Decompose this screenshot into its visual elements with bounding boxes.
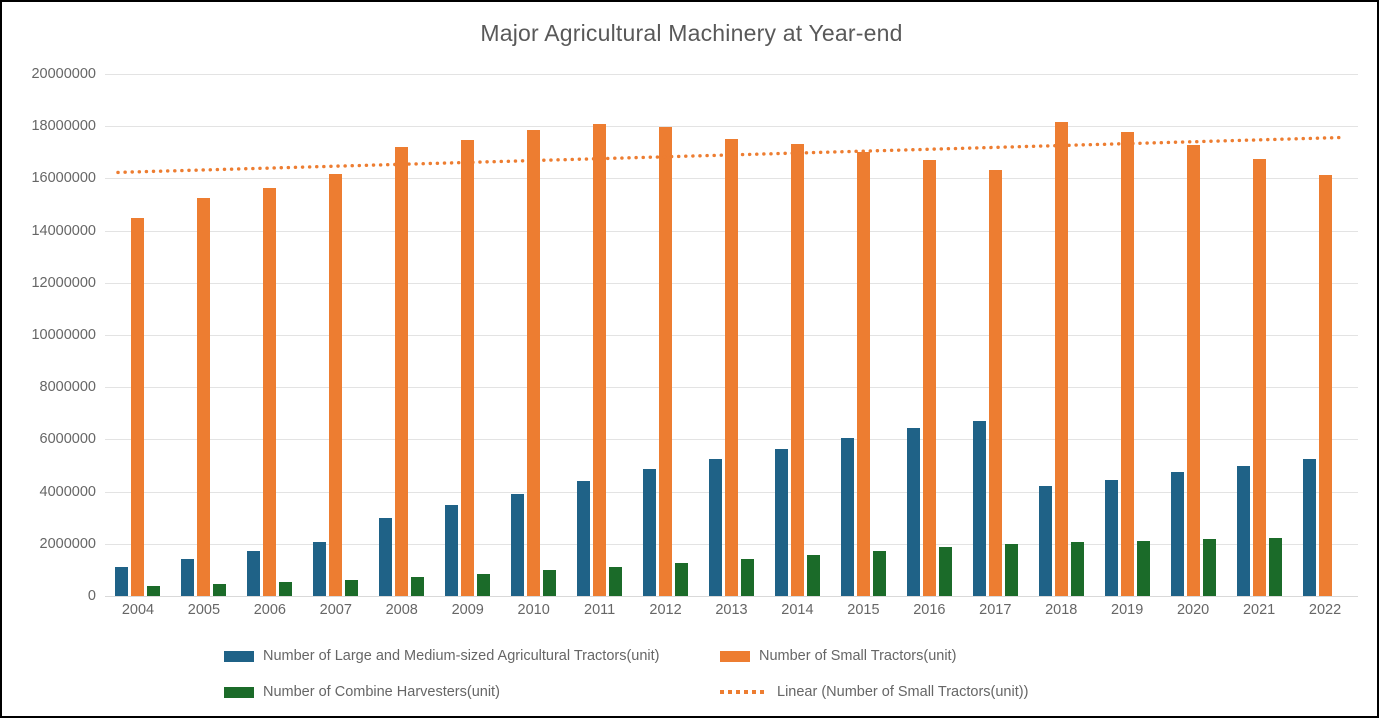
bar-group [1039, 74, 1084, 596]
x-axis-tick-label: 2004 [122, 602, 154, 618]
bar[interactable] [923, 160, 936, 596]
bar-group [115, 74, 160, 596]
chart-title: Major Agricultural Machinery at Year-end [2, 20, 1379, 47]
y-axis-tick-label: 8000000 [10, 379, 96, 395]
x-axis-tick-label: 2006 [254, 602, 286, 618]
y-axis-tick-label: 12000000 [10, 275, 96, 291]
x-axis-tick-label: 2009 [452, 602, 484, 618]
bar[interactable] [1005, 544, 1018, 596]
bar[interactable] [1203, 539, 1216, 596]
x-axis-tick-label: 2008 [386, 602, 418, 618]
bar[interactable] [741, 559, 754, 596]
legend-item[interactable]: Number of Small Tractors(unit) [720, 648, 956, 664]
bar[interactable] [643, 469, 656, 596]
x-axis-tick-label: 2020 [1177, 602, 1209, 618]
bar[interactable] [213, 584, 226, 596]
legend-item[interactable]: Number of Combine Harvesters(unit) [224, 684, 500, 700]
bar[interactable] [1319, 175, 1332, 597]
x-axis-tick-label: 2013 [715, 602, 747, 618]
x-axis-tick-label: 2022 [1309, 602, 1341, 618]
x-axis-tick-label: 2018 [1045, 602, 1077, 618]
chart-legend: Number of Large and Medium-sized Agricul… [2, 646, 1379, 708]
bar[interactable] [313, 542, 326, 596]
legend-label: Linear (Number of Small Tractors(unit)) [777, 684, 1028, 700]
bar[interactable] [1121, 132, 1134, 596]
x-axis-tick-label: 2007 [320, 602, 352, 618]
legend-color-swatch-icon [224, 687, 254, 698]
bar[interactable] [1187, 145, 1200, 596]
x-axis-labels: 2004200520062007200820092010201120122013… [105, 602, 1358, 628]
bar[interactable] [511, 494, 524, 596]
x-axis-line [105, 596, 1358, 597]
bar-group [379, 74, 424, 596]
bar-group [841, 74, 886, 596]
bar[interactable] [1253, 159, 1266, 596]
plot-area [105, 74, 1358, 596]
legend-label: Number of Small Tractors(unit) [759, 648, 956, 664]
legend-label: Number of Combine Harvesters(unit) [263, 684, 500, 700]
bar-group [577, 74, 622, 596]
bar-group [247, 74, 292, 596]
bar-group [643, 74, 688, 596]
bar[interactable] [1171, 472, 1184, 596]
bar[interactable] [477, 574, 490, 596]
bar[interactable] [659, 127, 672, 596]
bar[interactable] [857, 152, 870, 596]
bar[interactable] [807, 555, 820, 596]
bar[interactable] [1237, 466, 1250, 596]
bar[interactable] [989, 170, 1002, 596]
bar[interactable] [247, 551, 260, 596]
x-axis-tick-label: 2012 [649, 602, 681, 618]
y-axis-tick-label: 2000000 [10, 536, 96, 552]
y-axis-tick-label: 16000000 [10, 170, 96, 186]
bar-group [1303, 74, 1348, 596]
bar[interactable] [1269, 538, 1282, 596]
bar[interactable] [379, 518, 392, 596]
x-axis-tick-label: 2015 [847, 602, 879, 618]
bar-group [181, 74, 226, 596]
bar[interactable] [395, 147, 408, 596]
bar-group [907, 74, 952, 596]
bar[interactable] [279, 582, 292, 596]
bar-group [1171, 74, 1216, 596]
bar-group [313, 74, 358, 596]
x-axis-tick-label: 2014 [781, 602, 813, 618]
bar-group [973, 74, 1018, 596]
y-axis-tick-label: 18000000 [10, 118, 96, 134]
bar[interactable] [1105, 480, 1118, 596]
bar[interactable] [791, 144, 804, 596]
bar[interactable] [147, 586, 160, 596]
bar[interactable] [329, 174, 342, 596]
bar[interactable] [725, 139, 738, 596]
bar[interactable] [1039, 486, 1052, 596]
y-axis-tick-label: 20000000 [10, 66, 96, 82]
x-axis-tick-label: 2011 [584, 602, 615, 618]
bar[interactable] [411, 577, 424, 596]
x-axis-tick-label: 2005 [188, 602, 220, 618]
bar-group [445, 74, 490, 596]
y-axis-tick-label: 0 [10, 588, 96, 604]
bar[interactable] [675, 563, 688, 596]
y-axis-tick-label: 6000000 [10, 431, 96, 447]
legend-color-swatch-icon [720, 651, 750, 662]
bar[interactable] [577, 481, 590, 596]
bar[interactable] [973, 421, 986, 596]
bar[interactable] [527, 130, 540, 596]
bar[interactable] [1071, 542, 1084, 596]
x-axis-tick-label: 2017 [979, 602, 1011, 618]
x-axis-tick-label: 2019 [1111, 602, 1143, 618]
bar[interactable] [181, 559, 194, 596]
y-axis-tick-label: 4000000 [10, 484, 96, 500]
x-axis-tick-label: 2016 [913, 602, 945, 618]
bar[interactable] [1055, 122, 1068, 596]
bar-group [709, 74, 754, 596]
bar-group [775, 74, 820, 596]
bar[interactable] [197, 198, 210, 596]
bar[interactable] [445, 505, 458, 596]
bar[interactable] [907, 428, 920, 596]
legend-label: Number of Large and Medium-sized Agricul… [263, 648, 660, 664]
bar[interactable] [115, 567, 128, 596]
bar[interactable] [263, 188, 276, 596]
y-axis-tick-label: 10000000 [10, 327, 96, 343]
legend-item[interactable]: Linear (Number of Small Tractors(unit)) [720, 684, 1028, 700]
bar[interactable] [131, 218, 144, 596]
bar-group [1237, 74, 1282, 596]
legend-color-swatch-icon [224, 651, 254, 662]
bar[interactable] [873, 551, 886, 596]
bar[interactable] [709, 459, 722, 596]
bar[interactable] [461, 140, 474, 596]
chart-container: Major Agricultural Machinery at Year-end… [0, 0, 1379, 718]
bar[interactable] [1137, 541, 1150, 596]
x-axis-tick-label: 2010 [518, 602, 550, 618]
bar[interactable] [345, 580, 358, 596]
bar[interactable] [939, 547, 952, 596]
x-axis-tick-label: 2021 [1243, 602, 1275, 618]
bar[interactable] [1303, 459, 1316, 596]
legend-item[interactable]: Number of Large and Medium-sized Agricul… [224, 648, 660, 664]
bar[interactable] [609, 567, 622, 596]
bar[interactable] [543, 570, 556, 596]
bar[interactable] [593, 124, 606, 596]
y-axis-tick-label: 14000000 [10, 223, 96, 239]
bar[interactable] [841, 438, 854, 596]
legend-dotted-line-icon [720, 690, 768, 694]
bar-group [1105, 74, 1150, 596]
bar[interactable] [775, 449, 788, 596]
bar-group [511, 74, 556, 596]
